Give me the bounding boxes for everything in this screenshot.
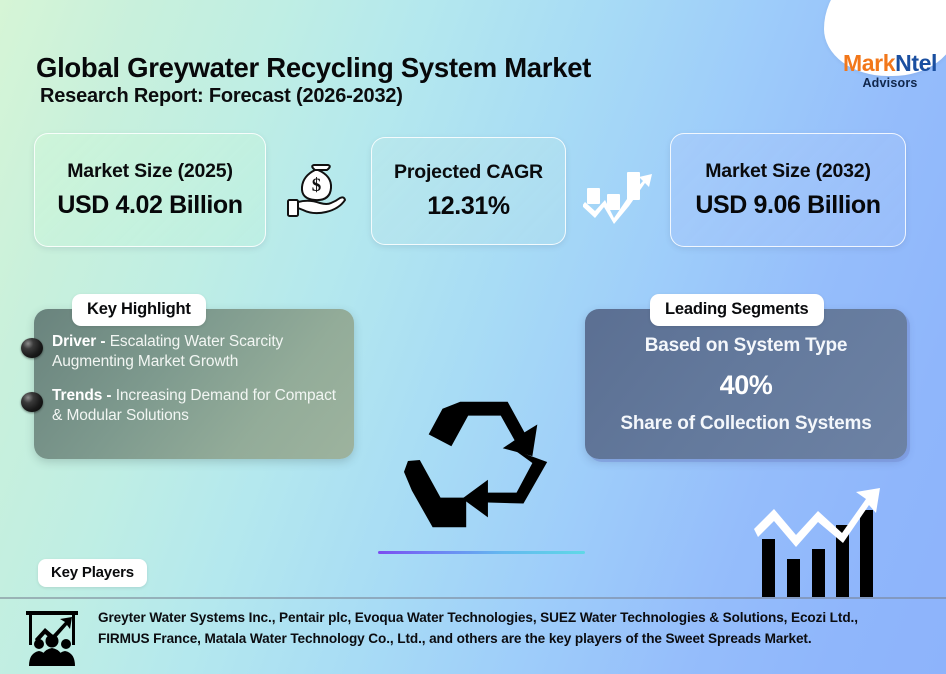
- svg-text:$: $: [312, 175, 322, 196]
- segment-description: Share of Collection Systems: [585, 413, 907, 435]
- money-bag-icon: $: [285, 163, 351, 225]
- accent-divider-line: [378, 551, 585, 554]
- segment-share-value: 40%: [585, 370, 907, 401]
- stat-label: Market Size (2032): [705, 160, 870, 183]
- footer-divider: [0, 597, 946, 599]
- key-highlight-list: Driver - Escalating Water Scarcity Augme…: [52, 332, 342, 440]
- bullet-label: Driver -: [52, 333, 105, 350]
- key-highlight-badge: Key Highlight: [72, 294, 206, 326]
- stat-card-market-size-2025: Market Size (2025) USD 4.02 Billion: [34, 133, 266, 247]
- logo-subtitle: Advisors: [828, 77, 946, 90]
- segment-basis: Based on System Type: [585, 335, 907, 357]
- page-subtitle: Research Report: Forecast (2026-2032): [40, 85, 403, 108]
- stat-value: USD 4.02 Billion: [57, 191, 242, 220]
- list-item: Driver - Escalating Water Scarcity Augme…: [52, 332, 342, 373]
- leading-segments-badge: Leading Segments: [650, 294, 824, 326]
- growth-bar-chart-arrow-icon: [752, 487, 882, 599]
- bullet-dot-icon: [21, 338, 43, 358]
- infographic-canvas: MarkNtel Advisors Global Greywater Recyc…: [0, 0, 946, 674]
- stat-value: USD 9.06 Billion: [695, 191, 880, 220]
- presentation-people-icon: [22, 608, 82, 666]
- logo-text-mark: Mark: [843, 50, 895, 76]
- rising-bar-chart-arrow-icon: [583, 166, 655, 228]
- stat-card-market-size-2032: Market Size (2032) USD 9.06 Billion: [670, 133, 906, 247]
- bullet-dot-icon: [21, 392, 43, 412]
- key-players-badge: Key Players: [38, 559, 147, 587]
- stat-label: Market Size (2025): [67, 160, 232, 183]
- stat-label: Projected CAGR: [394, 161, 543, 184]
- stat-card-projected-cagr: Projected CAGR 12.31%: [371, 137, 566, 245]
- bullet-label: Trends -: [52, 387, 112, 404]
- stat-value: 12.31%: [427, 192, 509, 221]
- logo-text-ntel: Ntel: [895, 50, 937, 76]
- key-players-text: Greyter Water Systems Inc., Pentair plc,…: [98, 607, 910, 649]
- brand-logo[interactable]: MarkNtel Advisors: [828, 52, 946, 90]
- list-item: Trends - Increasing Demand for Compact &…: [52, 386, 342, 427]
- recycling-symbol-icon: [403, 388, 561, 540]
- page-title: Global Greywater Recycling System Market: [36, 52, 591, 84]
